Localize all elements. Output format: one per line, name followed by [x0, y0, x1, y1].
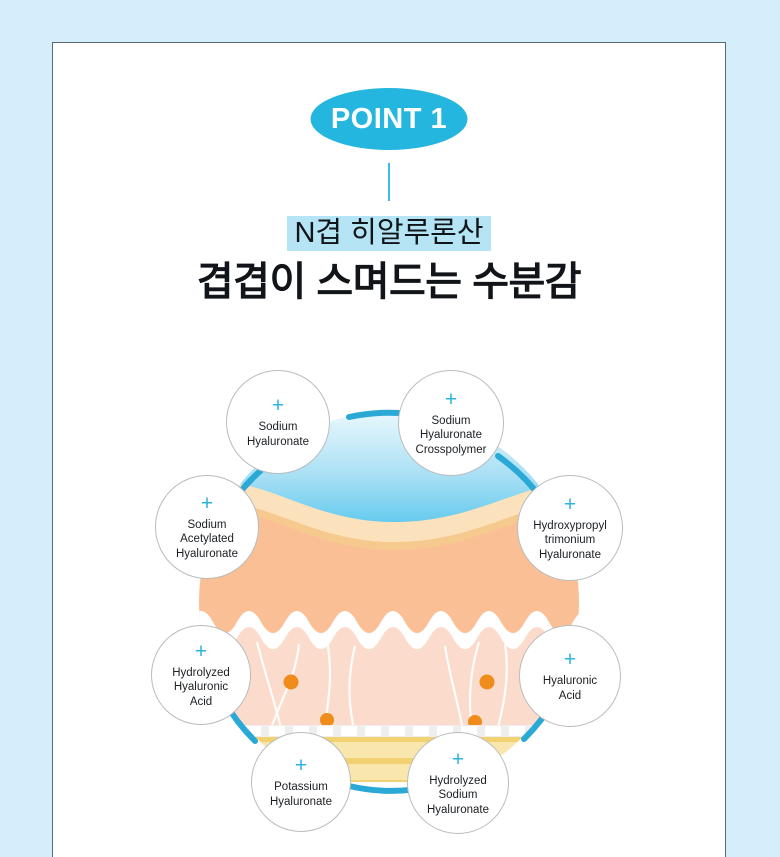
bubble-potassium-hyaluronate[interactable]: + Potassium Hyaluronate — [251, 732, 351, 832]
bubble-hyaluronic-acid[interactable]: + Hyaluronic Acid — [519, 625, 621, 727]
page-title: 겹겹이 스며드는 수분감 — [197, 260, 581, 304]
bubble-sodium-hyaluronate[interactable]: + Sodium Hyaluronate — [226, 370, 330, 474]
plus-icon: + — [452, 749, 464, 770]
bubble-hydroxypropyl-trimonium-hyaluronate[interactable]: + Hydroxypropyl trimonium Hyaluronate — [517, 475, 623, 581]
skin-cross-section-illustration — [149, 370, 629, 835]
bubble-hydrolyzed-hyaluronic-acid[interactable]: + Hydrolyzed Hyaluronic Acid — [151, 625, 251, 725]
plus-icon: + — [445, 389, 457, 410]
plus-icon: + — [295, 755, 307, 776]
bubble-hydrolyzed-sodium-hyaluronate[interactable]: + Hydrolyzed Sodium Hyaluronate — [407, 732, 509, 834]
bubble-label: Sodium Acetylated Hyaluronate — [172, 518, 242, 560]
bubble-label: Hydrolyzed Sodium Hyaluronate — [423, 774, 493, 816]
plus-icon: + — [272, 395, 284, 416]
subheading-row: N겹 히알루론산 — [53, 216, 725, 251]
page-root: POINT 1 N겹 히알루론산 겹겹이 스며드는 수분감 — [0, 0, 780, 850]
bubble-sodium-acetylated-hyaluronate[interactable]: + Sodium Acetylated Hyaluronate — [155, 475, 259, 579]
skin-layer-diagram: + Sodium Hyaluronate + Sodium Hyaluronat… — [149, 370, 629, 835]
bubble-sodium-hyaluronate-crosspolymer[interactable]: + Sodium Hyaluronate Crosspolymer — [398, 370, 504, 476]
badge-connector-line — [388, 163, 390, 201]
plus-icon: + — [195, 641, 207, 662]
point-badge-label: POINT 1 — [331, 105, 447, 134]
headline-row: 겹겹이 스며드는 수분감 — [53, 259, 725, 305]
bubble-label: Hyaluronic Acid — [539, 674, 601, 702]
content-card: POINT 1 N겹 히알루론산 겹겹이 스며드는 수분감 — [52, 42, 726, 857]
bubble-label: Sodium Hyaluronate Crosspolymer — [412, 414, 491, 456]
bubble-label: Hydroxypropyl trimonium Hyaluronate — [529, 519, 611, 561]
point-badge: POINT 1 — [311, 88, 468, 150]
plus-icon: + — [564, 494, 576, 515]
bubble-label: Sodium Hyaluronate — [243, 420, 313, 448]
plus-icon: + — [201, 493, 213, 514]
subheading-highlight: N겹 히알루론산 — [287, 216, 490, 251]
bubble-label: Hydrolyzed Hyaluronic Acid — [168, 666, 234, 708]
plus-icon: + — [564, 649, 576, 670]
bubble-label: Potassium Hyaluronate — [266, 780, 336, 808]
